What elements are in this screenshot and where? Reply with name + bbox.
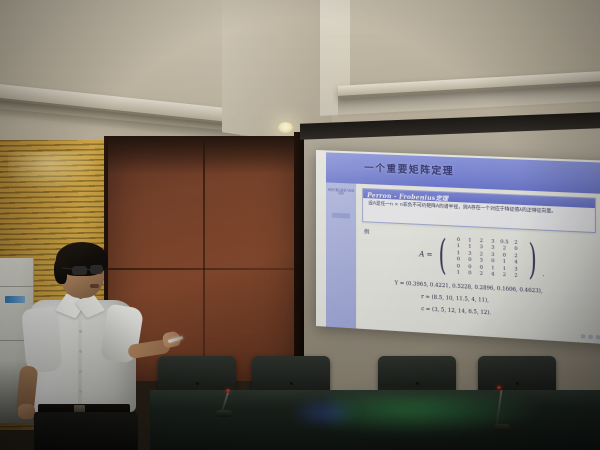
vector-line-c: c = (3, 5, 12, 14, 6.5, 12). (421, 306, 491, 316)
slide-sidebar: 线性代数与解析几何课程组 (326, 182, 356, 328)
vector-line-y: Y = (0.3965, 0.4221, 0.5228, 0.2896, 0.1… (395, 280, 543, 294)
matrix-cell: 2 (499, 272, 511, 279)
microphone-led-icon (226, 389, 230, 392)
shirt-button (79, 370, 82, 373)
slide-sidebar-button[interactable] (332, 213, 350, 219)
equals-sign: = (426, 251, 432, 259)
matrix-paren-left: ( (439, 237, 447, 274)
presenter-trousers (34, 412, 138, 450)
example-label: 例 (364, 228, 369, 235)
matrix-cell: 2 (476, 270, 487, 277)
glasses-lens-left (72, 266, 87, 275)
matrix-paren-right: ) (528, 242, 536, 280)
projection-screen[interactable]: 一个重要矩阵定理 线性代数与解析几何课程组 Perron - Frobenius… (316, 150, 600, 344)
presenter (16, 246, 176, 450)
matrix-cell: 4 (487, 271, 499, 278)
presenter-hand-left (18, 404, 35, 419)
microphone-base (216, 410, 232, 417)
home-icon[interactable] (596, 335, 600, 339)
matrix-cell: 2 (510, 272, 522, 279)
ceiling-downlight-icon (278, 122, 293, 133)
wood-panel-seam-vertical (203, 140, 205, 380)
presenter-sleeve-left (21, 307, 62, 374)
table-blue-reflection (290, 398, 360, 428)
slide-nav-icons[interactable] (581, 334, 600, 339)
slide-content: Perron - Frobenius定理 设A是任一n × n非负不可约矩阵A的… (358, 186, 600, 342)
vector-line-r: r = (8.5, 10, 11.5, 4, 11), (421, 294, 489, 304)
microphone-base (494, 424, 510, 431)
wood-panel-edge-right (294, 132, 304, 382)
glasses-lens-right (90, 265, 103, 274)
shirt-button (79, 350, 82, 353)
matrix-cell: 1 (453, 269, 464, 276)
prev-icon[interactable] (581, 334, 585, 338)
shirt-button (79, 330, 82, 333)
matrix-values: 01230.52113320132302003014000113102422 (453, 237, 522, 280)
microphone-led-icon (497, 386, 501, 389)
presenter-mouth (90, 284, 99, 288)
wall-light-glow (8, 152, 98, 192)
glasses-bridge (86, 269, 91, 270)
matrix-name: A (419, 250, 424, 258)
next-icon[interactable] (588, 335, 592, 339)
matrix-equation: A = ( 01230.5211332013230200301400011310… (419, 235, 544, 281)
shirt-button (79, 390, 82, 393)
presenter-hair-side (54, 258, 67, 284)
lecture-room-photo: 一个重要矩阵定理 线性代数与解析几何课程组 Perron - Frobenius… (0, 0, 600, 450)
matrix-trailing-punct: . (543, 271, 545, 280)
presentation-slide: 一个重要矩阵定理 线性代数与解析几何课程组 Perron - Frobenius… (316, 150, 600, 344)
matrix-cell: 0 (464, 270, 475, 277)
theorem-box: Perron - Frobenius定理 设A是任一n × n非负不可约矩阵A的… (362, 188, 596, 233)
slide-sidebar-text: 线性代数与解析几何课程组 (328, 189, 354, 197)
